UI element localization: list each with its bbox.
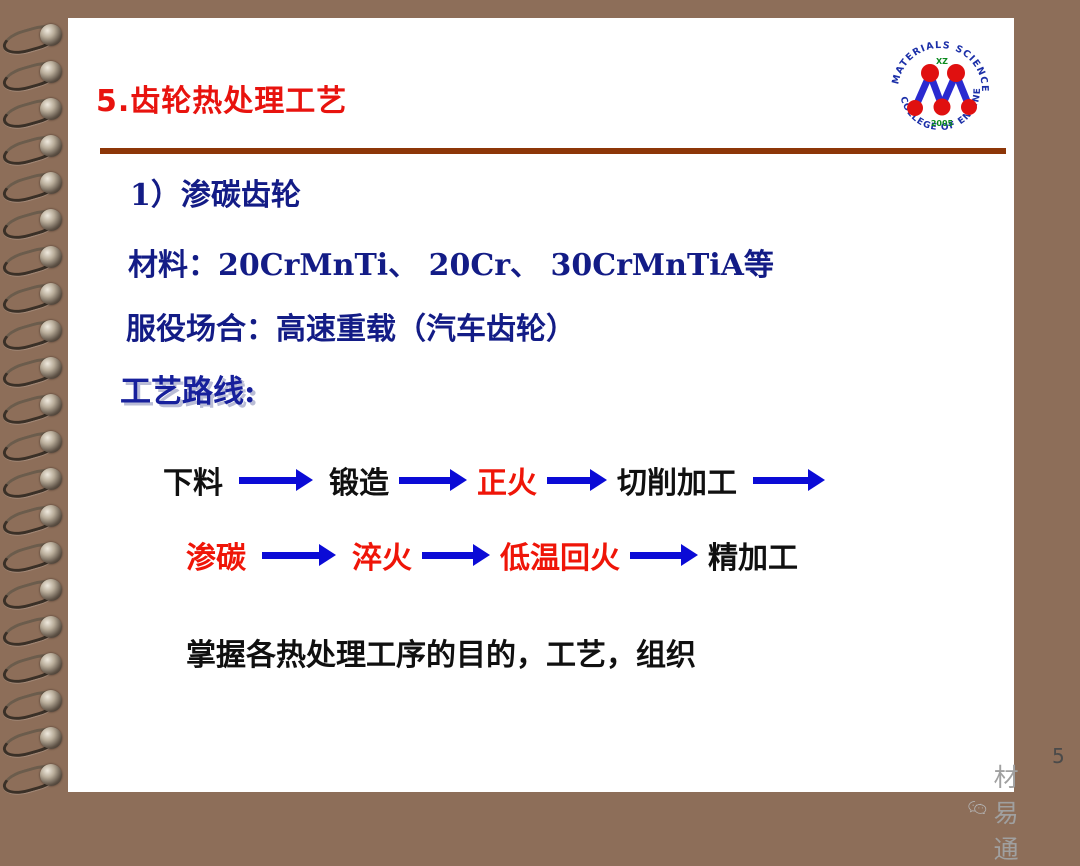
flow-node-xialiao: 下料 (163, 458, 223, 502)
logo-center-top-text: XZ (936, 57, 948, 66)
flow-node-cuihuo: 淬火 (352, 533, 412, 577)
wechat-icon (968, 799, 988, 825)
binding-ring (2, 505, 66, 531)
binding-ring (2, 246, 66, 272)
watermark: 材易通 (968, 758, 1036, 866)
binding-ring (2, 209, 66, 235)
flow-arrow-icon (239, 469, 313, 491)
binding-ring (2, 172, 66, 198)
binding-ring (2, 431, 66, 457)
process-flow-row-2: 渗碳 淬火 低温回火 精加工 (186, 533, 798, 577)
flow-node-qiexue: 切削加工 (617, 458, 737, 502)
flow-node-zhenghuo: 正火 (477, 458, 537, 502)
binding-ring (2, 579, 66, 605)
flow-arrow-icon (399, 469, 467, 491)
flow-arrow-icon (630, 544, 698, 566)
binding-ring (2, 468, 66, 494)
process-route-label: 工艺路线: (120, 366, 255, 411)
college-logo: MATERIALS SCIENCE & COLLEGE OF ENGINEERI… (884, 28, 996, 140)
page-number: 5 (1052, 744, 1065, 768)
binding-ring (2, 653, 66, 679)
binding-ring (2, 135, 66, 161)
binding-ring (2, 542, 66, 568)
binding-ring (2, 727, 66, 753)
watermark-text: 材易通 (994, 758, 1036, 866)
process-flow-row-1: 下料 锻造 正火 切削加工 (163, 458, 825, 502)
flow-node-dwhf: 低温回火 (500, 533, 620, 577)
binding-ring (2, 690, 66, 716)
title-divider (100, 148, 1006, 154)
flow-arrow-icon (753, 469, 825, 491)
binding-ring (2, 61, 66, 87)
binding-ring (2, 616, 66, 642)
flow-arrow-icon (422, 544, 490, 566)
binding-ring (2, 394, 66, 420)
flow-arrow-icon (547, 469, 607, 491)
binding-ring (2, 283, 66, 309)
flow-arrow-icon (262, 544, 336, 566)
logo-center-bottom-text: 2005 (931, 119, 954, 128)
flow-node-duanzao: 锻造 (329, 458, 389, 502)
material-text: 材料：20CrMnTi、 20Cr、 30CrMnTiA等 (128, 240, 774, 284)
footer-note: 掌握各热处理工序的目的，工艺，组织 (186, 630, 696, 674)
slide-canvas: 5.齿轮热处理工艺 1）渗碳齿轮 材料：20CrMnTi、 20Cr、 30Cr… (0, 0, 1080, 810)
service-case-text: 服役场合：高速重载（汽车齿轮） (126, 304, 576, 348)
binding-ring (2, 98, 66, 124)
binding-ring (2, 24, 66, 50)
binding-ring (2, 320, 66, 346)
slide-page: 5.齿轮热处理工艺 1）渗碳齿轮 材料：20CrMnTi、 20Cr、 30Cr… (68, 18, 1014, 792)
binding-ring (2, 764, 66, 790)
subtitle-text: 1）渗碳齿轮 (130, 170, 301, 214)
flow-node-shentan: 渗碳 (186, 533, 246, 577)
flow-node-jingjiagong: 精加工 (708, 533, 798, 577)
page-title: 5.齿轮热处理工艺 (96, 76, 347, 120)
spiral-binding (0, 0, 70, 810)
binding-ring (2, 357, 66, 383)
